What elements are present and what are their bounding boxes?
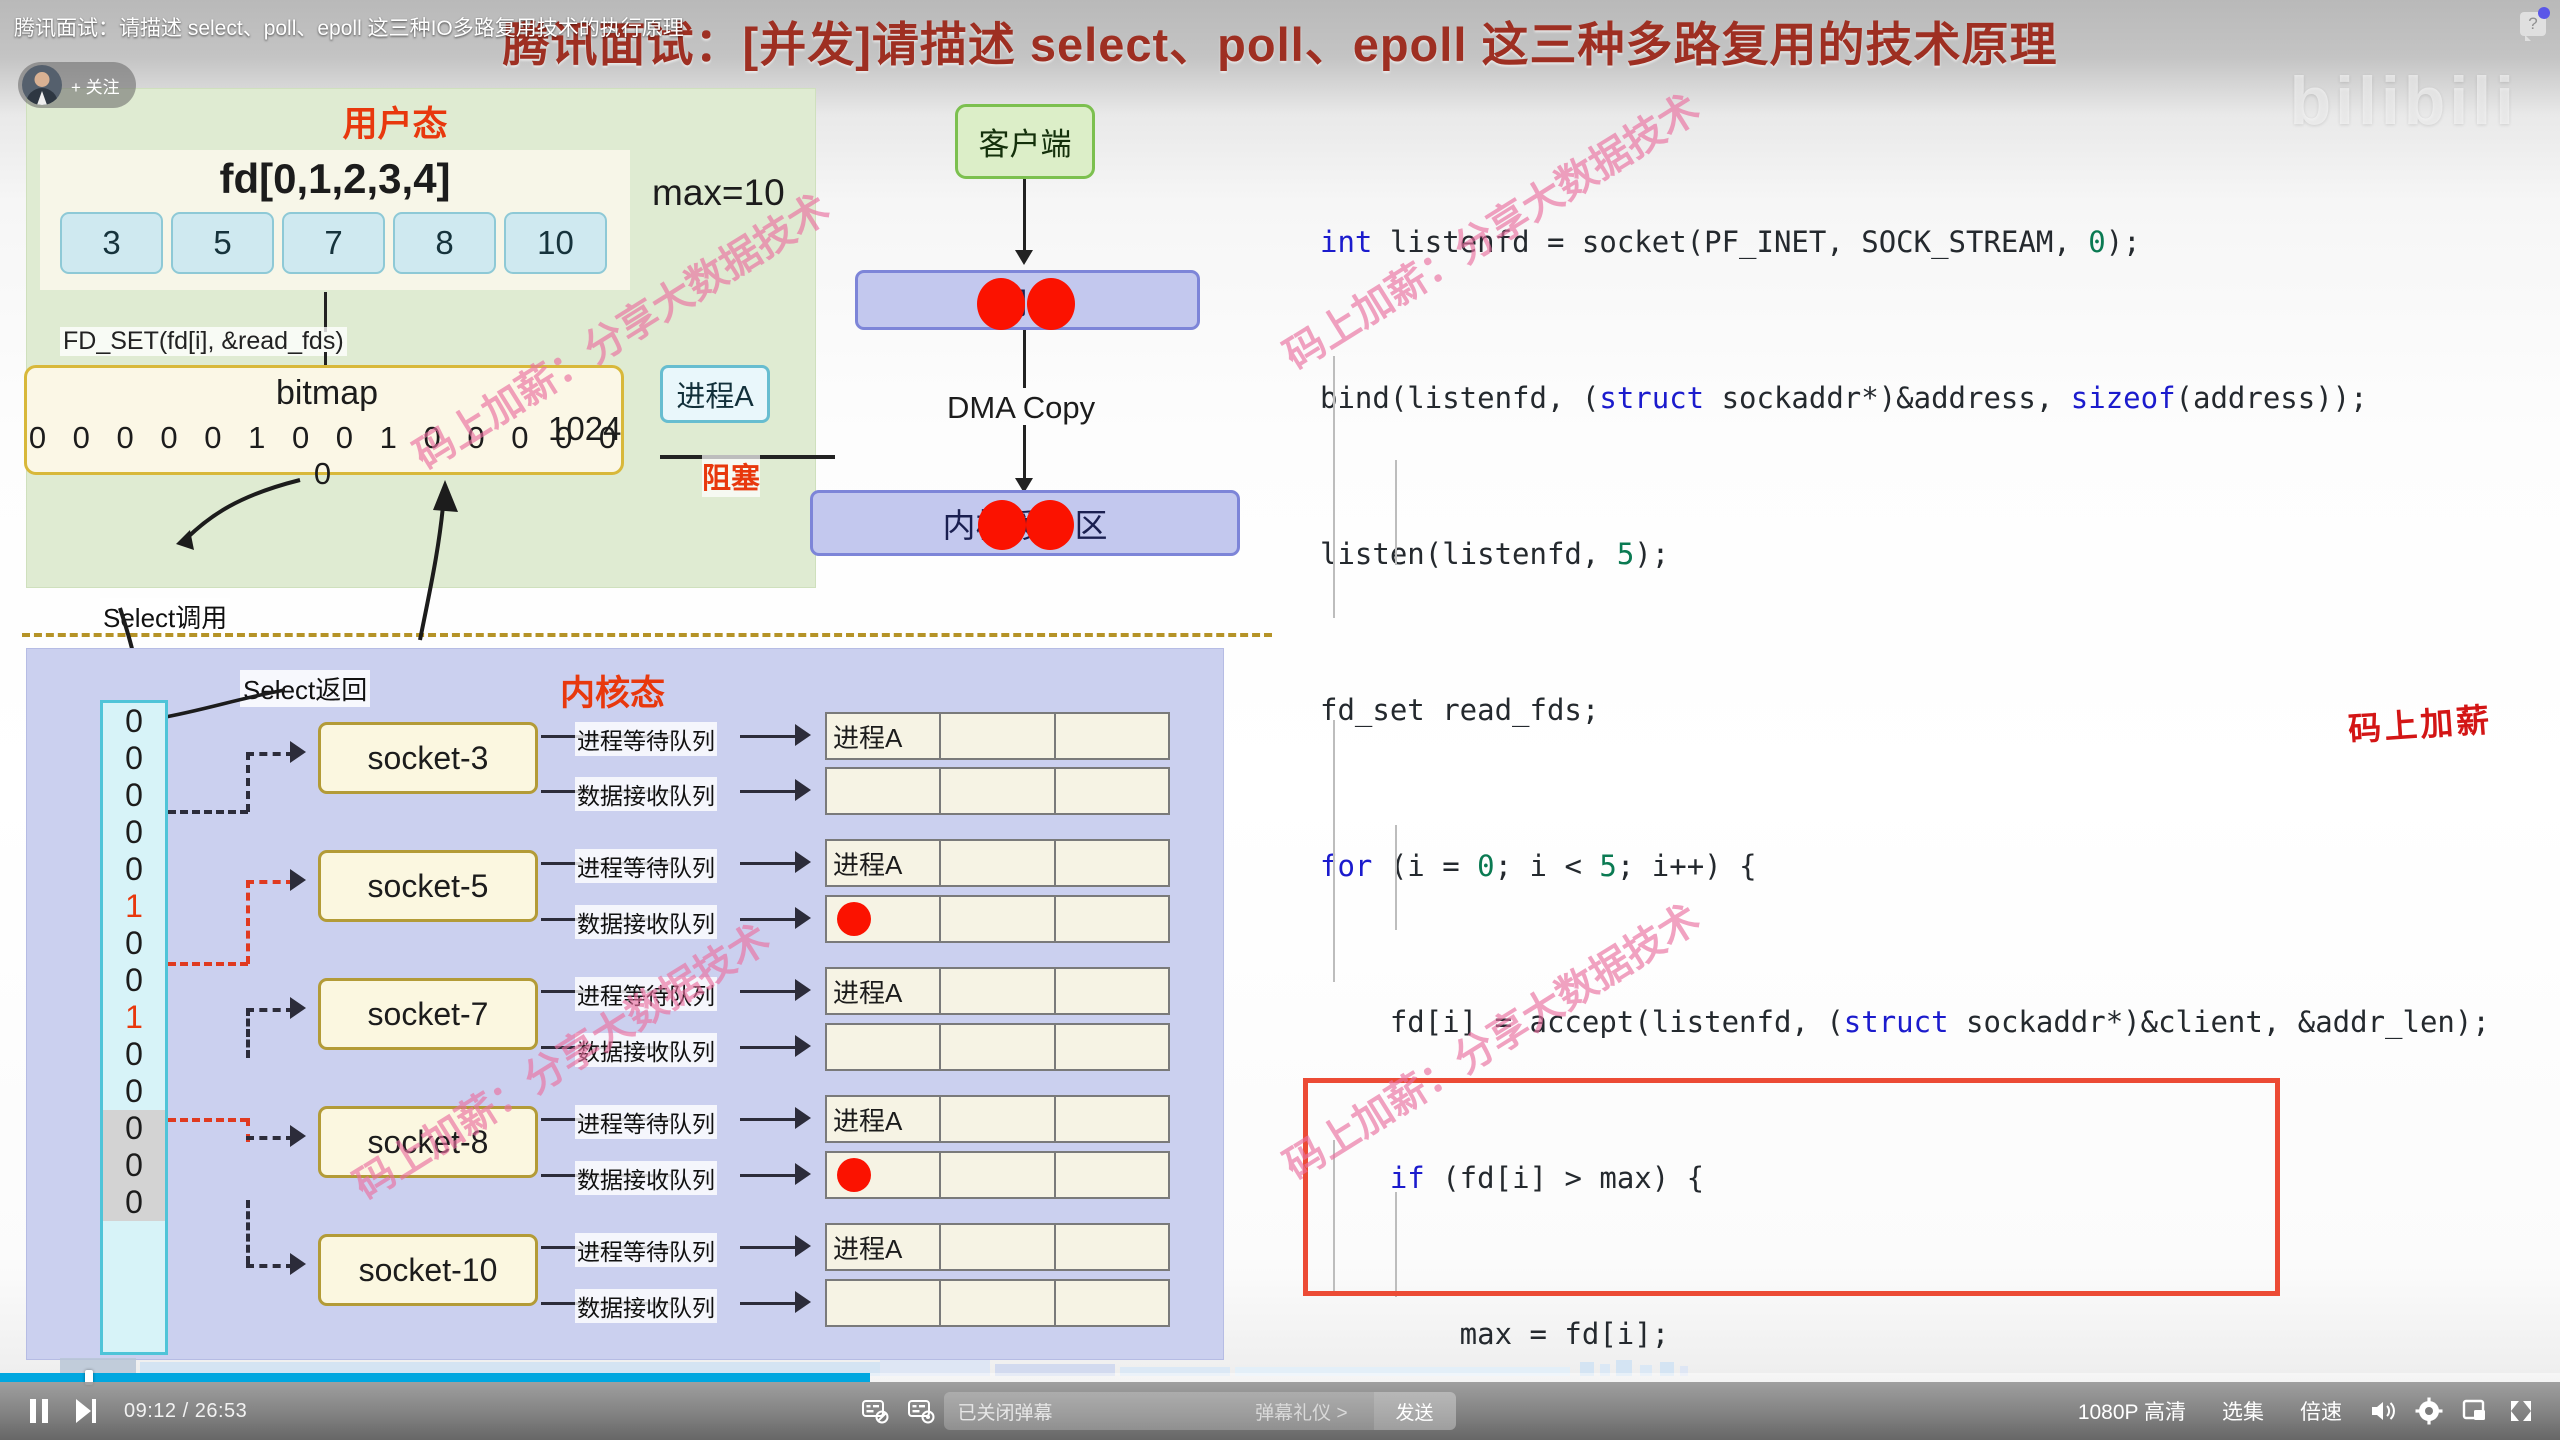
next-episode-button[interactable]	[62, 1388, 108, 1434]
bit-socket-dash-red	[246, 880, 294, 884]
wait-queue-table: 进程A	[825, 1223, 1170, 1271]
wait-queue-cell	[1056, 1225, 1168, 1269]
wait-queue-cell	[941, 1097, 1055, 1141]
bit-cell: 0	[103, 851, 165, 888]
volume-icon[interactable]	[2360, 1388, 2406, 1434]
notification-dot-icon	[2538, 7, 2550, 19]
pause-button[interactable]	[16, 1388, 62, 1434]
queue-line	[740, 1174, 800, 1177]
wait-queue-label: 进程等待队列	[575, 977, 717, 1011]
recv-queue-cell	[1056, 1153, 1168, 1197]
recv-queue-table	[825, 1279, 1170, 1327]
fullscreen-icon[interactable]	[2498, 1388, 2544, 1434]
wait-queue-cell: 进程A	[827, 1097, 941, 1141]
fd-array-label: fd[0,1,2,3,4]	[40, 155, 630, 203]
video-frame[interactable]: bilibili 用户态 fd[0,1,2,3,4] 3 5 7 8 10 ma…	[0, 0, 2560, 1380]
code-line: int listenfd = socket(PF_INET, SOCK_STRE…	[1320, 216, 2550, 268]
page-title: 腾讯面试：请描述 select、poll、epoll 这三种IO多路复用技术的执…	[14, 12, 684, 42]
video-player-page: bilibili 用户态 fd[0,1,2,3,4] 3 5 7 8 10 ma…	[0, 0, 2560, 1440]
data-ready-dot	[837, 1158, 871, 1192]
process-a-box: 进程A	[660, 365, 770, 423]
wait-queue-cell	[941, 841, 1055, 885]
bit-cell: 0	[103, 1073, 165, 1110]
queue-arrow	[795, 907, 811, 929]
packet-dot	[978, 500, 1026, 550]
queue-arrow	[795, 1035, 811, 1057]
queue-line	[740, 790, 800, 793]
wait-queue-cell	[941, 1225, 1055, 1269]
bit-cell: 0	[103, 962, 165, 999]
packet-dot	[977, 278, 1025, 330]
buffer-to-bitmap-arrow	[330, 470, 770, 670]
code-line: bind(listenfd, (struct sockaddr*)&addres…	[1320, 372, 2550, 424]
client-to-nic-line	[1023, 179, 1026, 254]
queue-arrow	[795, 1235, 811, 1257]
queue-arrow	[795, 1107, 811, 1129]
bit-socket-arrow	[290, 741, 306, 763]
indent-guide	[1395, 825, 1397, 930]
data-ready-dot	[837, 902, 871, 936]
fd-cell: 7	[282, 212, 385, 274]
queue-arrow	[795, 1291, 811, 1313]
recv-queue-table	[825, 767, 1170, 815]
fd-cell: 10	[504, 212, 607, 274]
recv-queue-cell	[827, 897, 941, 941]
bitmap-box: bitmap 0 0 0 0 0 1 0 0 1 0 0 0 0 0 0	[24, 365, 624, 475]
bit-cell: 0	[103, 1147, 165, 1184]
bit-socket-arrow	[290, 1125, 306, 1147]
recv-queue-cell	[941, 1153, 1055, 1197]
queue-line	[740, 918, 800, 921]
socket-node: socket-3	[318, 722, 538, 794]
bit-cell: 0	[103, 1184, 165, 1221]
fd-array-box: fd[0,1,2,3,4] 3 5 7 8 10	[40, 150, 630, 290]
fd-setsize-label: 1024	[548, 410, 621, 448]
send-danmaku-button[interactable]: 发送	[1374, 1392, 1456, 1430]
gear-icon[interactable]	[2406, 1388, 2452, 1434]
bit-socket-dash-red	[246, 880, 250, 964]
danmaku-placeholder: 已关闭弹幕	[958, 1398, 1053, 1425]
uploader-follow-pill[interactable]: + 关注	[18, 62, 136, 108]
fd-cell-list: 3 5 7 8 10	[60, 212, 607, 274]
queue-arrow	[795, 779, 811, 801]
danmaku-off-icon[interactable]	[852, 1388, 898, 1434]
bit-cell: 0	[103, 814, 165, 851]
code-line: for (i = 0; i < 5; i++) {	[1320, 840, 2550, 892]
bit-cell-set: 1	[103, 999, 165, 1036]
bit-socket-arrow	[290, 997, 306, 1019]
wait-queue-cell: 进程A	[827, 1225, 941, 1269]
recv-queue-cell	[1056, 769, 1168, 813]
bit-cell: 0	[103, 1036, 165, 1073]
recv-queue-label: 数据接收队列	[575, 1033, 717, 1067]
bit-socket-dash-red	[168, 1118, 248, 1122]
pip-icon[interactable]	[2452, 1388, 2498, 1434]
avatar[interactable]	[22, 65, 62, 105]
bit-socket-dash	[246, 1264, 294, 1268]
highlight-red-box	[1303, 1078, 2280, 1296]
bit-socket-dash	[246, 1136, 294, 1140]
wait-queue-cell: 进程A	[827, 969, 941, 1013]
recv-queue-table	[825, 1151, 1170, 1199]
bit-socket-arrow	[290, 1253, 306, 1275]
queue-arrow	[795, 1163, 811, 1185]
code-line: listen(listenfd, 5);	[1320, 528, 2550, 580]
code-line: fd[i] = accept(listenfd, (struct sockadd…	[1320, 996, 2550, 1048]
wait-queue-cell	[1056, 1097, 1168, 1141]
recv-queue-label: 数据接收队列	[575, 1289, 717, 1323]
queue-line	[740, 735, 800, 738]
dma-copy-label: DMA Copy	[947, 390, 1095, 426]
queue-line	[740, 1118, 800, 1121]
code-line: max = fd[i];	[1320, 1308, 2550, 1360]
progress-played	[0, 1373, 870, 1382]
recv-queue-cell	[1056, 897, 1168, 941]
wait-queue-cell	[941, 714, 1055, 758]
recv-queue-cell	[941, 897, 1055, 941]
queue-line	[740, 1246, 800, 1249]
recv-queue-cell	[941, 1281, 1055, 1325]
queue-arrow	[795, 979, 811, 1001]
player-control-bar: 09:12 / 26:53 已关闭弹幕 弹幕礼仪 > 发	[0, 1382, 2560, 1440]
fd-cell: 3	[60, 212, 163, 274]
bit-socket-dash-red	[168, 962, 248, 966]
wait-queue-cell	[941, 969, 1055, 1013]
socket-node: socket-10	[318, 1234, 538, 1306]
recv-queue-cell	[827, 769, 941, 813]
nic-to-buffer-line	[1023, 330, 1026, 388]
kernel-space-title: 内核态	[560, 665, 665, 716]
recv-queue-label: 数据接收队列	[575, 777, 717, 811]
bit-cell: 0	[103, 1110, 165, 1147]
queue-line	[740, 862, 800, 865]
recv-queue-cell	[1056, 1025, 1168, 1069]
queue-line	[740, 1302, 800, 1305]
wait-queue-table: 进程A	[825, 712, 1170, 760]
nic-to-buffer-line-2	[1023, 425, 1026, 483]
queue-line	[740, 990, 800, 993]
bit-socket-dash	[246, 752, 294, 756]
queue-line	[740, 1046, 800, 1049]
bit-cell: 0	[103, 777, 165, 814]
indent-guide	[1395, 460, 1397, 565]
packet-dot	[1027, 278, 1075, 330]
queue-arrow	[795, 851, 811, 873]
bit-socket-arrow	[290, 869, 306, 891]
bit-cell-set: 1	[103, 888, 165, 925]
wait-queue-cell	[1056, 714, 1168, 758]
fd-cell: 5	[171, 212, 274, 274]
recv-queue-cell	[1056, 1281, 1168, 1325]
packet-dot	[1026, 500, 1074, 550]
fd-set-call-label: FD_SET(fd[i], &read_fds)	[60, 327, 347, 356]
bit-socket-dash	[246, 1200, 250, 1264]
fd-to-fdset-line	[324, 292, 327, 332]
wait-queue-table: 进程A	[825, 1095, 1170, 1143]
client-box: 客户端	[955, 104, 1095, 179]
bitmap-title: bitmap	[27, 374, 627, 413]
red-stamp-watermark: 码上加薪	[2347, 693, 2494, 751]
recv-queue-cell	[941, 769, 1055, 813]
wait-queue-cell: 进程A	[827, 714, 941, 758]
wait-queue-label: 进程等待队列	[575, 1105, 717, 1139]
socket-node: socket-5	[318, 850, 538, 922]
follow-button-label[interactable]: + 关注	[71, 73, 120, 98]
wait-queue-cell	[1056, 841, 1168, 885]
max-value-label: max=10	[652, 172, 785, 214]
socket-node: socket-7	[318, 978, 538, 1050]
recv-queue-cell	[827, 1153, 941, 1197]
queue-arrow	[795, 724, 811, 746]
wait-queue-cell: 进程A	[827, 841, 941, 885]
bit-socket-dash	[246, 1008, 250, 1058]
wait-queue-table: 进程A	[825, 839, 1170, 887]
indent-guide	[1333, 356, 1335, 618]
bit-socket-dash	[246, 752, 250, 812]
danmaku-etiquette-link[interactable]: 弹幕礼仪 >	[1255, 1398, 1359, 1425]
bit-cell: 0	[103, 925, 165, 962]
bit-cell: 0	[103, 703, 165, 740]
wait-queue-label: 进程等待队列	[575, 1233, 717, 1267]
recv-queue-label: 数据接收队列	[575, 1161, 717, 1195]
recv-queue-label: 数据接收队列	[575, 905, 717, 939]
episode-list-button[interactable]: 选集	[2222, 1396, 2264, 1426]
fd-cell: 8	[393, 212, 496, 274]
socket-node: socket-8	[318, 1106, 538, 1178]
bit-cell: 0	[103, 740, 165, 777]
recv-queue-table	[825, 1023, 1170, 1071]
indent-guide	[1333, 720, 1335, 982]
recv-queue-cell	[827, 1025, 941, 1069]
wait-queue-cell	[1056, 969, 1168, 1013]
time-display: 09:12 / 26:53	[124, 1400, 247, 1423]
kernel-bitmap-column: 0 0 0 0 0 1 0 0 1 0 0 0 0 0	[100, 700, 168, 1355]
wait-queue-table: 进程A	[825, 967, 1170, 1015]
select-return-leader	[155, 680, 315, 740]
bit-socket-dash	[168, 810, 248, 814]
progress-bar-area[interactable]	[0, 1360, 2560, 1382]
wait-queue-label: 进程等待队列	[575, 849, 717, 883]
recv-queue-cell	[941, 1025, 1055, 1069]
danmaku-settings-icon[interactable]	[898, 1388, 944, 1434]
client-to-nic-arrow	[1015, 250, 1033, 265]
playback-speed-button[interactable]: 倍速	[2300, 1396, 2342, 1426]
quality-selector[interactable]: 1080P 高清	[2078, 1396, 2186, 1426]
recv-queue-table	[825, 895, 1170, 943]
wait-queue-label: 进程等待队列	[575, 722, 717, 756]
bit-socket-dash	[246, 1008, 294, 1012]
recv-queue-cell	[827, 1281, 941, 1325]
danmaku-input[interactable]: 已关闭弹幕 弹幕礼仪 >	[944, 1392, 1374, 1430]
